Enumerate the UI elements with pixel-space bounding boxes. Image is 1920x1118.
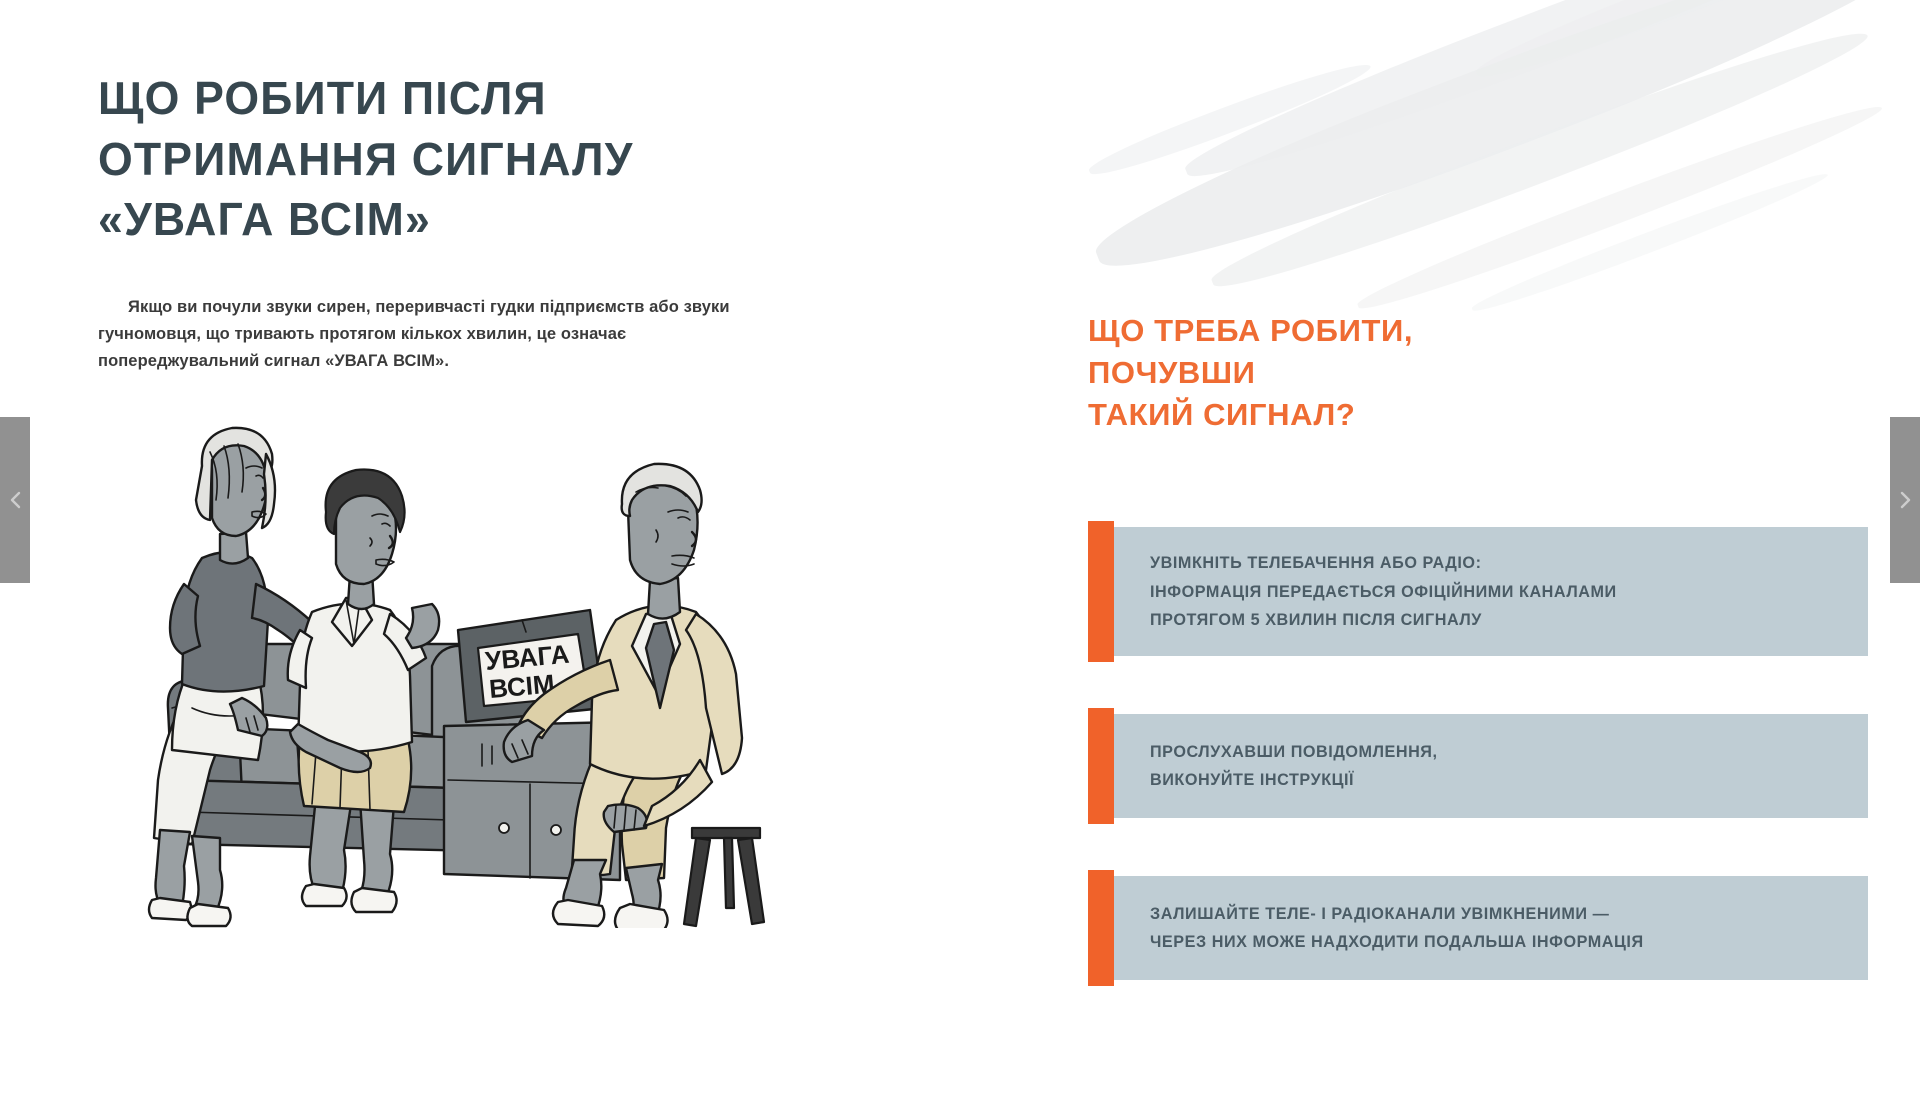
instruction-card-follow-instructions: ПРОСЛУХАВШИ ПОВІДОМЛЕННЯ, ВИКОНУЙТЕ ІНСТ… [1088, 714, 1868, 818]
section-heading-line-3: ТАКИЙ СИГНАЛ? [1088, 394, 1868, 436]
card-text: ЗАЛИШАЙТЕ ТЕЛЕ- І РАДІОКАНАЛИ УВІМКНЕНИМ… [1150, 900, 1644, 956]
card-3-line-1: ЗАЛИШАЙТЕ ТЕЛЕ- І РАДІОКАНАЛИ УВІМКНЕНИМ… [1150, 900, 1644, 928]
card-accent-bar [1088, 708, 1114, 824]
chevron-left-icon [10, 491, 21, 509]
page-title-line-3: «УВАГА ВСІМ» [98, 189, 835, 250]
card-1-line-2: ІНФОРМАЦІЯ ПЕРЕДАЄТЬСЯ ОФІЦІЙНИМИ КАНАЛА… [1150, 578, 1617, 606]
left-column: ЩО РОБИТИ ПІСЛЯ ОТРИМАННЯ СИГНАЛУ «УВАГА… [98, 68, 858, 374]
card-1-line-3: ПРОТЯГОМ 5 ХВИЛИН ПІСЛЯ СИГНАЛУ [1150, 606, 1617, 634]
right-column: ЩО ТРЕБА РОБИТИ, ПОЧУВШИ ТАКИЙ СИГНАЛ? У… [1088, 310, 1868, 980]
card-body: ЗАЛИШАЙТЕ ТЕЛЕ- І РАДІОКАНАЛИ УВІМКНЕНИМ… [1114, 876, 1868, 980]
instruction-card-list: УВІМКНІТЬ ТЕЛЕБАЧЕННЯ АБО РАДІО: ІНФОРМА… [1088, 527, 1868, 980]
section-heading-line-2: ПОЧУВШИ [1088, 352, 1868, 394]
chevron-right-icon [1900, 491, 1911, 509]
family-watching-tv-illustration: .ln { fill:none; stroke:#1a1a1a; stroke-… [60, 408, 880, 928]
card-accent-bar [1088, 870, 1114, 986]
page-title: ЩО РОБИТИ ПІСЛЯ ОТРИМАННЯ СИГНАЛУ «УВАГА… [98, 68, 835, 250]
carousel-prev-button[interactable] [0, 417, 30, 583]
instruction-card-turn-on-tv-radio: УВІМКНІТЬ ТЕЛЕБАЧЕННЯ АБО РАДІО: ІНФОРМА… [1088, 527, 1868, 656]
intro-paragraph: Якщо ви почули звуки сирен, переривчасті… [98, 294, 738, 374]
page-title-line-1: ЩО РОБИТИ ПІСЛЯ [98, 68, 835, 129]
card-text: УВІМКНІТЬ ТЕЛЕБАЧЕННЯ АБО РАДІО: ІНФОРМА… [1150, 549, 1617, 634]
card-body: УВІМКНІТЬ ТЕЛЕБАЧЕННЯ АБО РАДІО: ІНФОРМА… [1114, 527, 1868, 656]
section-heading: ЩО ТРЕБА РОБИТИ, ПОЧУВШИ ТАКИЙ СИГНАЛ? [1088, 310, 1868, 436]
card-accent-bar [1088, 521, 1114, 662]
infographic-slide: ЩО РОБИТИ ПІСЛЯ ОТРИМАННЯ СИГНАЛУ «УВАГА… [0, 0, 1920, 1118]
card-body: ПРОСЛУХАВШИ ПОВІДОМЛЕННЯ, ВИКОНУЙТЕ ІНСТ… [1114, 714, 1868, 818]
card-2-line-2: ВИКОНУЙТЕ ІНСТРУКЦІЇ [1150, 766, 1438, 794]
page-title-line-2: ОТРИМАННЯ СИГНАЛУ [98, 129, 835, 190]
card-2-line-1: ПРОСЛУХАВШИ ПОВІДОМЛЕННЯ, [1150, 738, 1438, 766]
instruction-card-keep-channels-on: ЗАЛИШАЙТЕ ТЕЛЕ- І РАДІОКАНАЛИ УВІМКНЕНИМ… [1088, 876, 1868, 980]
card-3-line-2: ЧЕРЕЗ НИХ МОЖЕ НАДХОДИТИ ПОДАЛЬША ІНФОРМ… [1150, 928, 1644, 956]
card-1-line-1: УВІМКНІТЬ ТЕЛЕБАЧЕННЯ АБО РАДІО: [1150, 549, 1617, 577]
section-heading-line-1: ЩО ТРЕБА РОБИТИ, [1088, 310, 1868, 352]
card-text: ПРОСЛУХАВШИ ПОВІДОМЛЕННЯ, ВИКОНУЙТЕ ІНСТ… [1150, 738, 1438, 794]
carousel-next-button[interactable] [1890, 417, 1920, 583]
